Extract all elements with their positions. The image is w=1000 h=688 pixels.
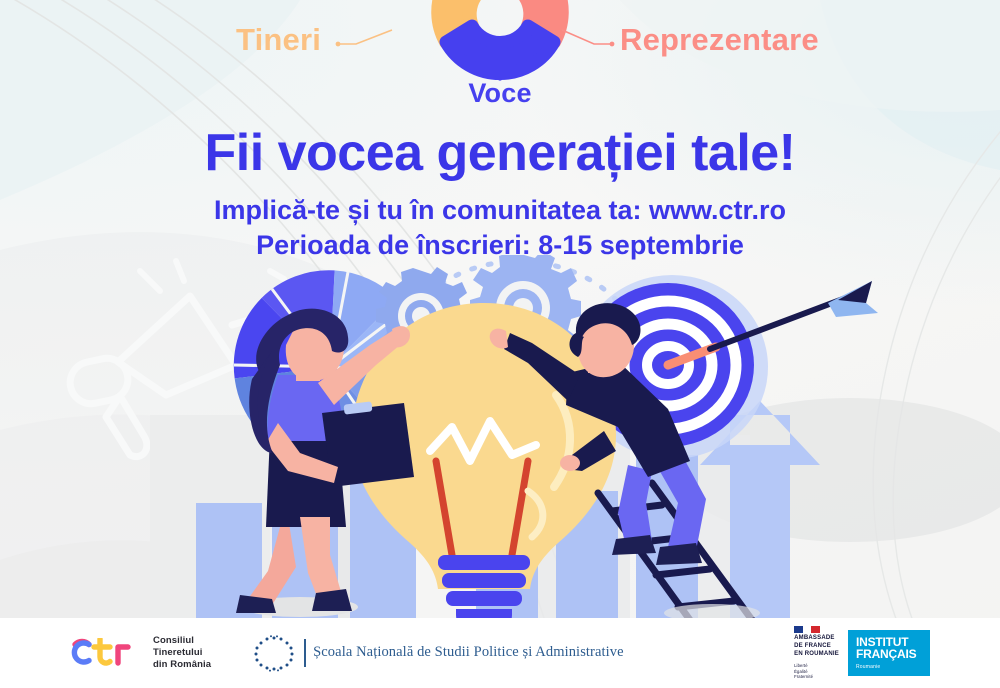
logo-ambassade: AMBASSADE DE FRANCE EN ROUMANIE Liberté … (794, 626, 839, 680)
motto-line-3: Fraternité (794, 674, 839, 680)
logo-french-partners: AMBASSADE DE FRANCE EN ROUMANIE Liberté … (794, 626, 930, 680)
poster-root: Tineri Reprezentare Voce Fii vocea gener… (0, 0, 1000, 688)
snspa-divider (304, 639, 306, 667)
ambassade-line-3: EN ROUMANIE (794, 651, 839, 659)
ctr-logo-mark (70, 638, 144, 668)
concept-label-voce: Voce (468, 78, 531, 109)
logo-ctr: Consiliul Tineretului din România (70, 635, 211, 671)
footer-bar: Consiliul Tineretului din România (0, 618, 1000, 688)
headline-block: Fii vocea generației tale! Implică-te și… (0, 126, 1000, 262)
concept-label-reprezentare: Reprezentare (620, 22, 819, 58)
ctr-line-2: Tineretului (153, 647, 211, 659)
concept-diagram: Tineri Reprezentare Voce (0, 0, 1000, 125)
ambassade-line-1: AMBASSADE (794, 635, 839, 643)
logo-institut-francais: INSTITUT FRANÇAIS Roumanie (848, 630, 930, 676)
headline-subtitle: Implică-te și tu în comunitatea ta: www.… (0, 195, 1000, 227)
ambassade-line-2: DE FRANCE (794, 643, 839, 651)
page-title: Fii vocea generației tale! (0, 126, 1000, 181)
logo-snspa: Școala Națională de Studii Politice și A… (251, 633, 624, 673)
ctr-line-3: din România (153, 659, 211, 671)
ctr-line-1: Consiliul (153, 635, 211, 647)
ctr-logo-text: Consiliul Tineretului din România (153, 635, 211, 671)
institut-line-2: FRANÇAIS (856, 649, 922, 661)
institut-line-3: Roumanie (856, 664, 922, 670)
main-illustration (0, 255, 1000, 620)
concept-label-tineri: Tineri (236, 22, 321, 58)
eu-stars-ring-icon (251, 633, 297, 673)
ambassade-text: AMBASSADE DE FRANCE EN ROUMANIE (794, 635, 839, 659)
french-flag-icon (794, 626, 820, 633)
snspa-name: Școala Națională de Studii Politice și A… (313, 644, 624, 661)
ambassade-motto: Liberté Égalité Fraternité (794, 663, 839, 680)
